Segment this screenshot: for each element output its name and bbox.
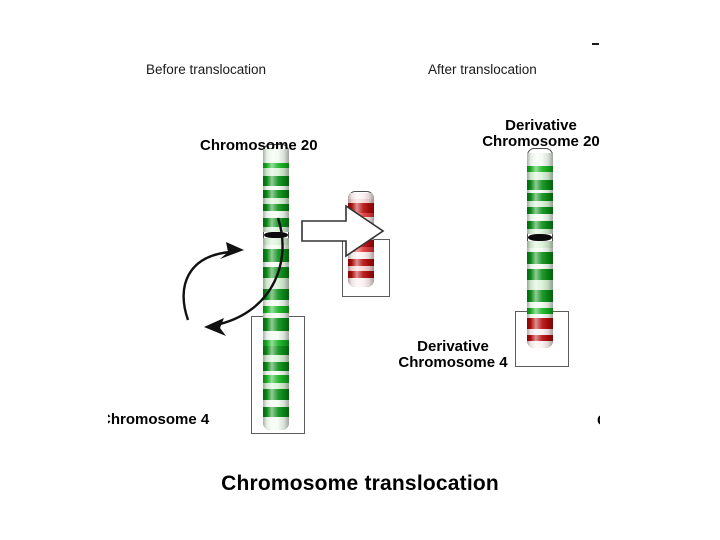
figure-caption: Chromosome translocation — [0, 472, 720, 496]
band-19 — [527, 290, 553, 302]
label-derivative-chromosome-4: Derivative Chromosome 4 — [378, 339, 528, 371]
band-3 — [263, 168, 289, 176]
slide-canvas: Before translocation After translocation… — [0, 0, 720, 540]
band-26 — [263, 346, 289, 355]
band-8 — [263, 204, 289, 211]
band-33 — [263, 400, 289, 407]
figure-area: Before translocation After translocation… — [108, 28, 600, 440]
band-8 — [527, 207, 553, 214]
band-4 — [263, 176, 289, 186]
swap-arrows — [170, 214, 300, 344]
band-35 — [263, 417, 289, 430]
label-clipped-right-edge: C — [597, 412, 600, 429]
band-32 — [263, 389, 289, 400]
label-derivative-chromosome-4-line2: Chromosome 4 — [398, 354, 507, 371]
header-before-translocation: Before translocation — [146, 62, 266, 77]
label-derivative-chromosome-4-line1: Derivative — [417, 338, 489, 355]
band-6 — [527, 193, 553, 201]
swap-arrow-up-head — [220, 242, 244, 259]
band-21 — [527, 308, 553, 315]
band-12 — [528, 234, 552, 241]
band-4 — [527, 180, 553, 190]
header-after-translocation: After translocation — [428, 62, 537, 77]
band-6 — [263, 190, 289, 198]
band-9 — [527, 214, 553, 221]
band-13 — [527, 241, 553, 248]
band-14 — [348, 271, 374, 278]
band-1 — [263, 149, 289, 163]
label-chromosome-4: Chromosome 4 — [108, 412, 209, 428]
swap-arrow-down-path — [220, 218, 283, 324]
band-26 — [527, 341, 553, 348]
label-chromosome-20: Chromosome 20 — [200, 138, 318, 154]
band-34 — [263, 407, 289, 417]
band-30 — [263, 375, 289, 383]
band-18 — [527, 280, 553, 291]
band-1 — [527, 153, 553, 167]
label-derivative-chromosome-20-line1: Derivative — [505, 117, 577, 134]
swap-arrow-up-path — [184, 252, 230, 320]
band-10 — [527, 221, 553, 230]
band-17 — [527, 269, 553, 280]
band-27 — [263, 355, 289, 362]
big-transition-arrow — [300, 202, 386, 260]
band-23 — [527, 318, 553, 329]
band-15 — [348, 278, 374, 287]
label-derivative-chromosome-20: Derivative Chromosome 20 — [466, 118, 600, 150]
band-15 — [527, 252, 553, 265]
band-28 — [263, 362, 289, 371]
derivative-chromosome-4 — [527, 148, 553, 348]
band-3 — [527, 172, 553, 180]
band-25 — [527, 335, 553, 342]
scan-artifact-dash — [592, 43, 599, 45]
swap-arrow-down-head — [204, 318, 226, 336]
